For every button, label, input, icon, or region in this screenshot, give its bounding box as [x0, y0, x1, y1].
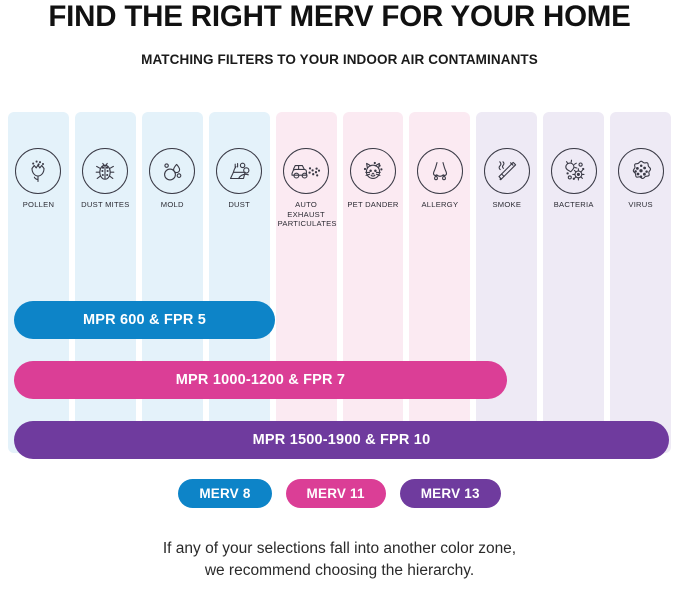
contaminant-columns: POLLEN DUST MITES MOLD DUST — [8, 112, 671, 453]
bacteria-icon — [551, 148, 597, 194]
contaminant-column-virus[interactable]: VIRUS — [610, 112, 671, 453]
contaminant-column-allergy[interactable]: ALLERGY — [409, 112, 470, 453]
legend-pill-label: MERV 13 — [421, 486, 480, 501]
contaminant-column-pollen[interactable]: POLLEN — [8, 112, 69, 453]
icon-wrapper — [610, 148, 671, 194]
page-subtitle: MATCHING FILTERS TO YOUR INDOOR AIR CONT… — [0, 33, 679, 67]
icon-wrapper — [142, 148, 203, 194]
contaminant-label: POLLEN — [8, 200, 69, 210]
dustpan-icon — [216, 148, 262, 194]
contaminant-label: AUTO EXHAUST PARTICULATES — [276, 200, 337, 229]
mite-icon — [82, 148, 128, 194]
contaminant-label: MOLD — [142, 200, 203, 210]
contaminant-label: VIRUS — [610, 200, 671, 210]
rating-bar-label: MPR 600 & FPR 5 — [83, 312, 206, 328]
legend-pill-merv-8[interactable]: MERV 8 — [178, 479, 271, 508]
contaminant-label: SMOKE — [476, 200, 537, 210]
legend-pill-label: MERV 8 — [199, 486, 250, 501]
contaminant-column-dust[interactable]: DUST — [209, 112, 270, 453]
icon-wrapper — [276, 148, 337, 194]
merv-legend: MERV 8MERV 11MERV 13 — [0, 479, 679, 508]
contaminant-column-mold[interactable]: MOLD — [142, 112, 203, 453]
page-title: FIND THE RIGHT MERV FOR YOUR HOME — [0, 2, 679, 33]
cigarette-icon — [484, 148, 530, 194]
rating-bar-3[interactable]: MPR 1500-1900 & FPR 10 — [14, 421, 669, 459]
icon-wrapper — [209, 148, 270, 194]
icon-wrapper — [8, 148, 69, 194]
rating-bar-1[interactable]: MPR 600 & FPR 5 — [14, 301, 275, 339]
virus-icon — [618, 148, 664, 194]
contaminant-label: BACTERIA — [543, 200, 604, 210]
merv-chart: POLLEN DUST MITES MOLD DUST — [8, 112, 671, 453]
rating-bar-2[interactable]: MPR 1000-1200 & FPR 7 — [14, 361, 507, 399]
legend-pill-merv-11[interactable]: MERV 11 — [286, 479, 386, 508]
rating-bar-label: MPR 1000-1200 & FPR 7 — [176, 372, 345, 388]
contaminant-column-smoke[interactable]: SMOKE — [476, 112, 537, 453]
legend-pill-merv-13[interactable]: MERV 13 — [400, 479, 501, 508]
contaminant-column-pet-dander[interactable]: PET DANDER — [343, 112, 404, 453]
mold-icon — [149, 148, 195, 194]
icon-wrapper — [543, 148, 604, 194]
rating-bar-label: MPR 1500-1900 & FPR 10 — [253, 432, 431, 448]
contaminant-column-dust-mites[interactable]: DUST MITES — [75, 112, 136, 453]
cat-icon — [350, 148, 396, 194]
footer-line-2: we recommend choosing the hierarchy. — [0, 560, 679, 582]
icon-wrapper — [476, 148, 537, 194]
contaminant-label: DUST MITES — [75, 200, 136, 210]
contaminant-label: ALLERGY — [409, 200, 470, 210]
icon-wrapper — [343, 148, 404, 194]
footer-note: If any of your selections fall into anot… — [0, 538, 679, 582]
contaminant-column-auto-exhaust-particulates[interactable]: AUTO EXHAUST PARTICULATES — [276, 112, 337, 453]
nose-icon — [417, 148, 463, 194]
contaminant-label: PET DANDER — [343, 200, 404, 210]
car-icon — [283, 148, 329, 194]
contaminant-label: DUST — [209, 200, 270, 210]
icon-wrapper — [75, 148, 136, 194]
footer-line-1: If any of your selections fall into anot… — [0, 538, 679, 560]
legend-pill-label: MERV 11 — [307, 486, 365, 501]
icon-wrapper — [409, 148, 470, 194]
contaminant-column-bacteria[interactable]: BACTERIA — [543, 112, 604, 453]
header: FIND THE RIGHT MERV FOR YOUR HOME MATCHI… — [0, 0, 679, 67]
flower-icon — [15, 148, 61, 194]
